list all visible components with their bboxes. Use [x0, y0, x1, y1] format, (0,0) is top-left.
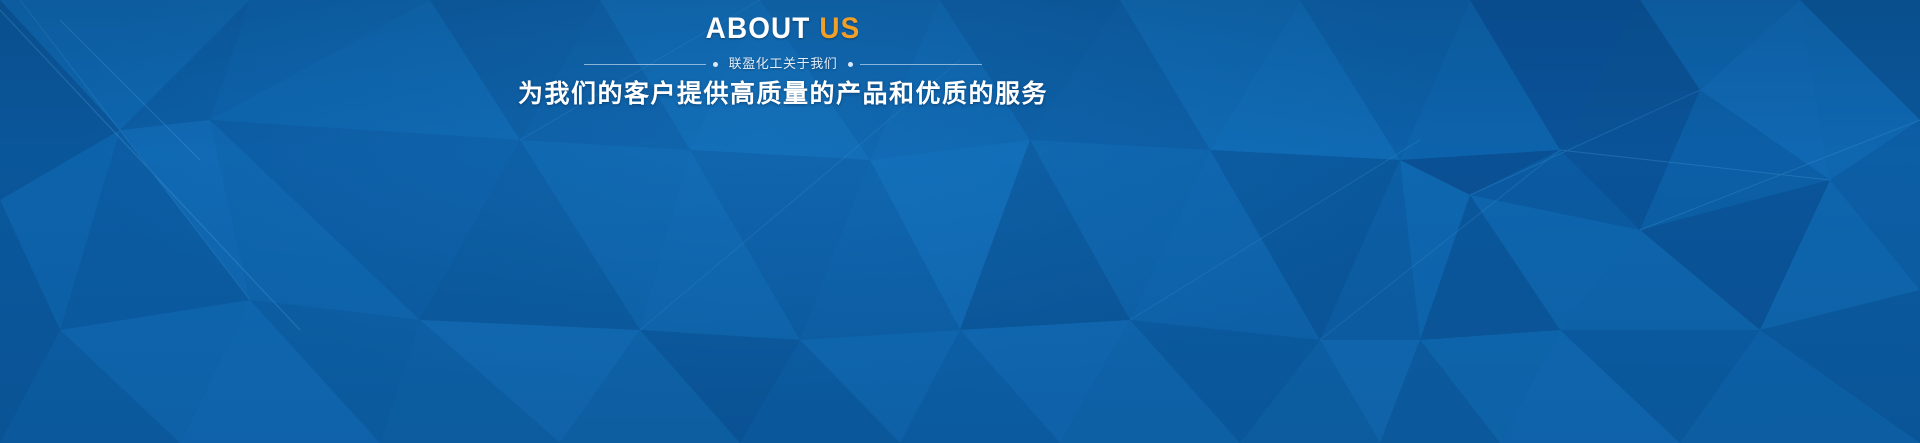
- divider-dot-right-icon: [848, 62, 853, 67]
- page-title-highlight: US: [819, 12, 860, 45]
- divider-line-right-icon: [860, 64, 982, 65]
- page-title: ABOUT US: [55, 12, 1511, 46]
- about-us-banner: ABOUT US 联盈化工关于我们 为我们的客户提供高质量的产品和优质的服务: [0, 0, 1920, 443]
- banner-headline: 为我们的客户提供高质量的产品和优质的服务: [0, 79, 1566, 109]
- subtitle-row: 联盈化工关于我们: [0, 55, 1566, 73]
- banner-content: ABOUT US 联盈化工关于我们 为我们的客户提供高质量的产品和优质的服务: [0, 0, 1566, 109]
- divider-line-left-icon: [584, 64, 706, 65]
- divider-dot-left-icon: [713, 62, 718, 67]
- subtitle-text: 联盈化工关于我们: [725, 55, 842, 73]
- page-title-primary: ABOUT: [706, 12, 811, 45]
